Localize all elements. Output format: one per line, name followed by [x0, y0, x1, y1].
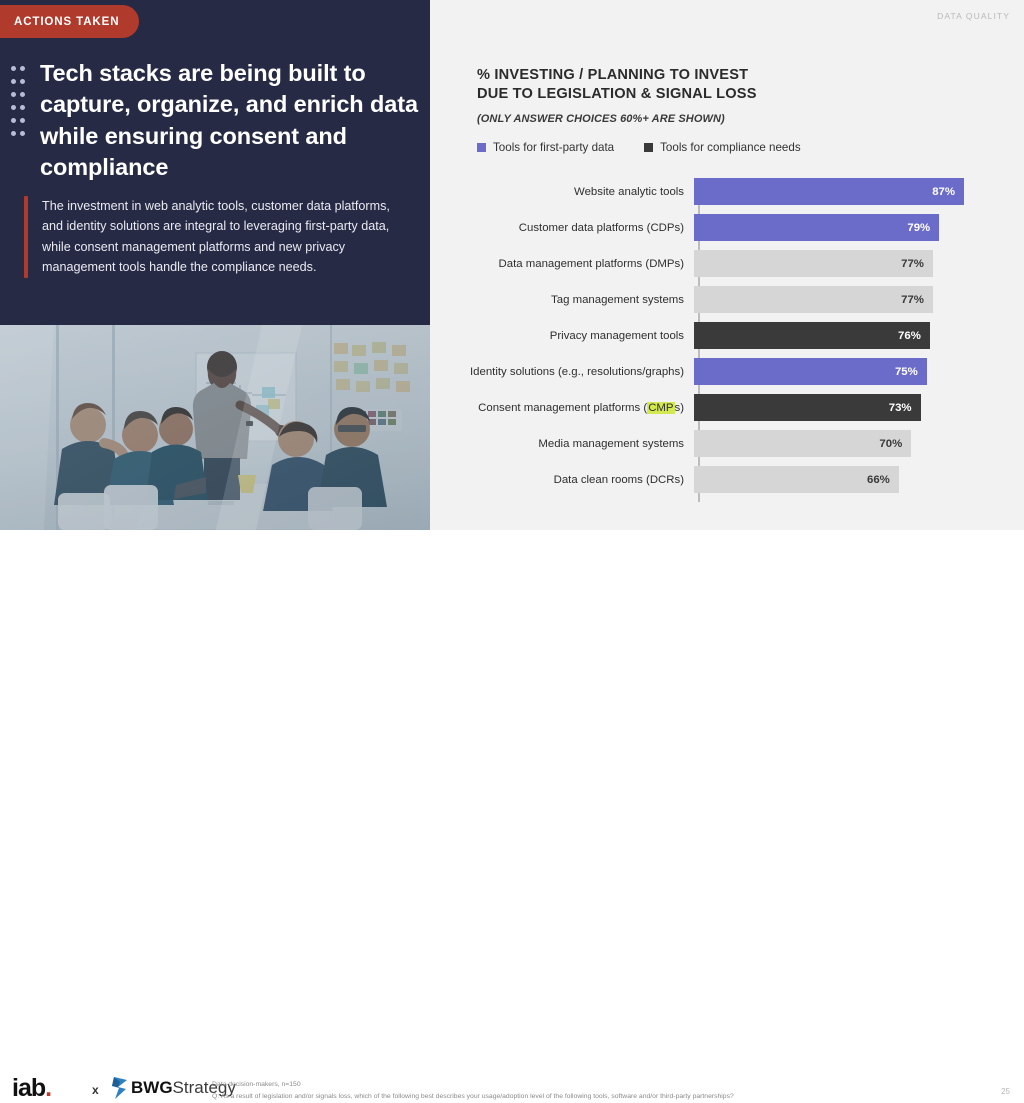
bar-track: 75%: [694, 358, 1010, 385]
bar: 77%: [694, 250, 933, 277]
grid-dot: [11, 131, 16, 136]
grid-dot: [11, 79, 16, 84]
grid-dot: [11, 118, 16, 123]
bar-row: Data clean rooms (DCRs)66%: [450, 466, 1010, 493]
grid-dot: [20, 92, 25, 97]
bar-label: Data clean rooms (DCRs): [450, 474, 694, 486]
bar-label: Consent management platforms (CMPs): [450, 402, 694, 414]
grid-dot: [11, 66, 16, 71]
legend-swatch-compliance: [644, 143, 653, 152]
bar-label: Privacy management tools: [450, 330, 694, 342]
bwg-logo-bold: BWG: [131, 1078, 173, 1097]
iab-logo-text: iab: [12, 1074, 45, 1102]
bar: 76%: [694, 322, 930, 349]
chart-title: % INVESTING / PLANNING TO INVEST DUE TO …: [477, 66, 997, 105]
bar-track: 87%: [694, 178, 1010, 205]
bar: 73%: [694, 394, 921, 421]
bar-row: Data management platforms (DMPs)77%: [450, 250, 1010, 277]
legend-item-first-party: Tools for first-party data: [477, 141, 614, 154]
legend-item-compliance: Tools for compliance needs: [644, 141, 801, 154]
meeting-photo: [0, 325, 430, 530]
bar-track: 77%: [694, 250, 1010, 277]
grid-dot: [20, 105, 25, 110]
bar-track: 70%: [694, 430, 1010, 457]
bar-track: 77%: [694, 286, 1010, 313]
footnote: Data decision-makers, n=150 Q: As a resu…: [212, 1079, 982, 1103]
footnote-sample: Data decision-makers, n=150: [212, 1079, 982, 1091]
section-label: DATA QUALITY: [937, 11, 1010, 21]
summary-callout: The investment in web analytic tools, cu…: [24, 196, 406, 278]
grid-dot: [20, 131, 25, 136]
bar-track: 76%: [694, 322, 1010, 349]
bar-row: Privacy management tools76%: [450, 322, 1010, 349]
page-title: Tech stacks are being built to capture, …: [40, 58, 420, 183]
grid-dot: [20, 79, 25, 84]
legend-swatch-first-party: [477, 143, 486, 152]
bar: 75%: [694, 358, 927, 385]
iab-logo-dot: .: [45, 1074, 51, 1102]
bar-track: 73%: [694, 394, 1010, 421]
bar-row: Tag management systems77%: [450, 286, 1010, 313]
footnote-question: Q: As a result of legislation and/or sig…: [212, 1091, 982, 1103]
legend-label-compliance: Tools for compliance needs: [660, 141, 801, 154]
bwg-ribbon-icon: [110, 1076, 130, 1100]
bar-label: Media management systems: [450, 438, 694, 450]
bar-label: Data management platforms (DMPs): [450, 258, 694, 270]
grid-dot: [20, 118, 25, 123]
bar-row: Identity solutions (e.g., resolutions/gr…: [450, 358, 1010, 385]
dot-grid-decoration: [11, 66, 29, 144]
bar: 77%: [694, 286, 933, 313]
chart-subtitle: (ONLY ANSWER CHOICES 60%+ ARE SHOWN): [477, 113, 725, 125]
callout-accent-bar: [24, 196, 28, 278]
bar-row: Customer data platforms (CDPs)79%: [450, 214, 1010, 241]
bar-chart: Website analytic tools87%Customer data p…: [450, 178, 1010, 508]
slide: ACTIONS TAKEN Tech stacks are being buil…: [0, 0, 1024, 586]
bar: 66%: [694, 466, 899, 493]
footer: iab. x BWGStrategy Data decision-makers,…: [0, 530, 1024, 586]
bar: 87%: [694, 178, 964, 205]
chart-title-line-1: % INVESTING / PLANNING TO INVEST: [477, 66, 997, 85]
iab-logo: iab.: [12, 1076, 51, 1101]
grid-dot: [20, 66, 25, 71]
grid-dot: [11, 105, 16, 110]
logo-separator-x: x: [92, 1083, 99, 1097]
bar-label: Tag management systems: [450, 294, 694, 306]
page-number: 25: [1001, 1087, 1010, 1096]
left-panel: ACTIONS TAKEN Tech stacks are being buil…: [0, 0, 430, 530]
legend-label-first-party: Tools for first-party data: [493, 141, 614, 154]
bar: 70%: [694, 430, 911, 457]
meeting-photo-illustration: [0, 325, 430, 530]
right-panel: DATA QUALITY % INVESTING / PLANNING TO I…: [430, 0, 1024, 530]
bar-row: Media management systems70%: [450, 430, 1010, 457]
bar-track: 79%: [694, 214, 1010, 241]
actions-taken-tab: ACTIONS TAKEN: [0, 5, 139, 38]
grid-dot: [11, 92, 16, 97]
bar-row: Website analytic tools87%: [450, 178, 1010, 205]
callout-text: The investment in web analytic tools, cu…: [42, 196, 406, 278]
bar-row: Consent management platforms (CMPs)73%: [450, 394, 1010, 421]
bar-label: Identity solutions (e.g., resolutions/gr…: [450, 366, 694, 378]
bar: 79%: [694, 214, 939, 241]
highlighted-term: CMP: [647, 402, 674, 414]
bar-label: Website analytic tools: [450, 186, 694, 198]
actions-taken-label: ACTIONS TAKEN: [14, 16, 119, 28]
chart-legend: Tools for first-party data Tools for com…: [477, 141, 801, 154]
bar-label: Customer data platforms (CDPs): [450, 222, 694, 234]
bar-track: 66%: [694, 466, 1010, 493]
chart-title-line-2: DUE TO LEGISLATION & SIGNAL LOSS: [477, 85, 997, 104]
